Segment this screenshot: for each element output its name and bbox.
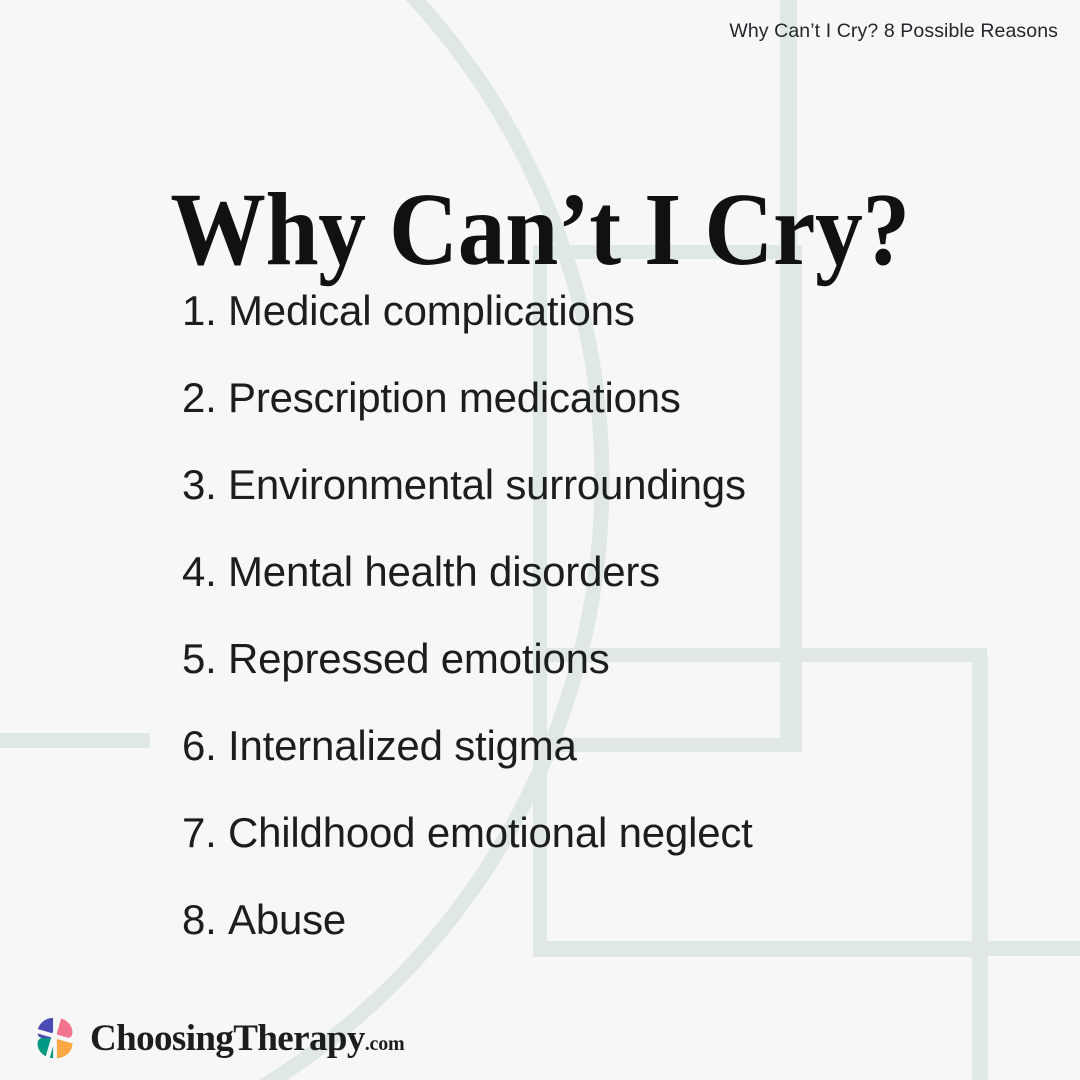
choosingtherapy-pinwheel-icon (31, 1014, 79, 1062)
list-item-label: Medical complications (228, 288, 1022, 334)
brand-wordmark: ChoosingTherapy.com (90, 1020, 404, 1057)
list-item-label: Internalized stigma (228, 723, 1022, 769)
reasons-list: 1. Medical complications 2. Prescription… (142, 288, 1022, 984)
list-item: 7. Childhood emotional neglect (182, 810, 1022, 897)
list-item-number: 5. (182, 636, 228, 682)
list-item: 5. Repressed emotions (182, 636, 1022, 723)
list-item-number: 4. (182, 549, 228, 595)
list-item-label: Repressed emotions (228, 636, 1022, 682)
list-item-number: 3. (182, 462, 228, 508)
list-item-number: 2. (182, 375, 228, 421)
list-item: 4. Mental health disorders (182, 549, 1022, 636)
article-eyebrow: Why Can’t I Cry? 8 Possible Reasons (729, 20, 1058, 43)
list-item-label: Prescription medications (228, 375, 1022, 421)
list-item: 1. Medical complications (182, 288, 1022, 375)
infographic-canvas: Why Can’t I Cry? 8 Possible Reasons Why … (0, 0, 1080, 1080)
list-item: 2. Prescription medications (182, 375, 1022, 462)
list-item-label: Childhood emotional neglect (228, 810, 1022, 856)
page-title: Why Can’t I Cry? (43, 178, 1037, 282)
brand-tld: .com (365, 1034, 405, 1054)
list-item: 3. Environmental surroundings (182, 462, 1022, 549)
list-item-label: Abuse (228, 897, 1022, 943)
list-item-number: 7. (182, 810, 228, 856)
list-item: 6. Internalized stigma (182, 723, 1022, 810)
list-item-number: 1. (182, 288, 228, 334)
list-item-number: 8. (182, 897, 228, 943)
list-item-label: Mental health disorders (228, 549, 1022, 595)
brand-name: ChoosingTherapy (90, 1020, 365, 1057)
list-item: 8. Abuse (182, 897, 1022, 984)
brand-logo: ChoosingTherapy.com (31, 1014, 404, 1062)
list-item-number: 6. (182, 723, 228, 769)
list-item-label: Environmental surroundings (228, 462, 1022, 508)
